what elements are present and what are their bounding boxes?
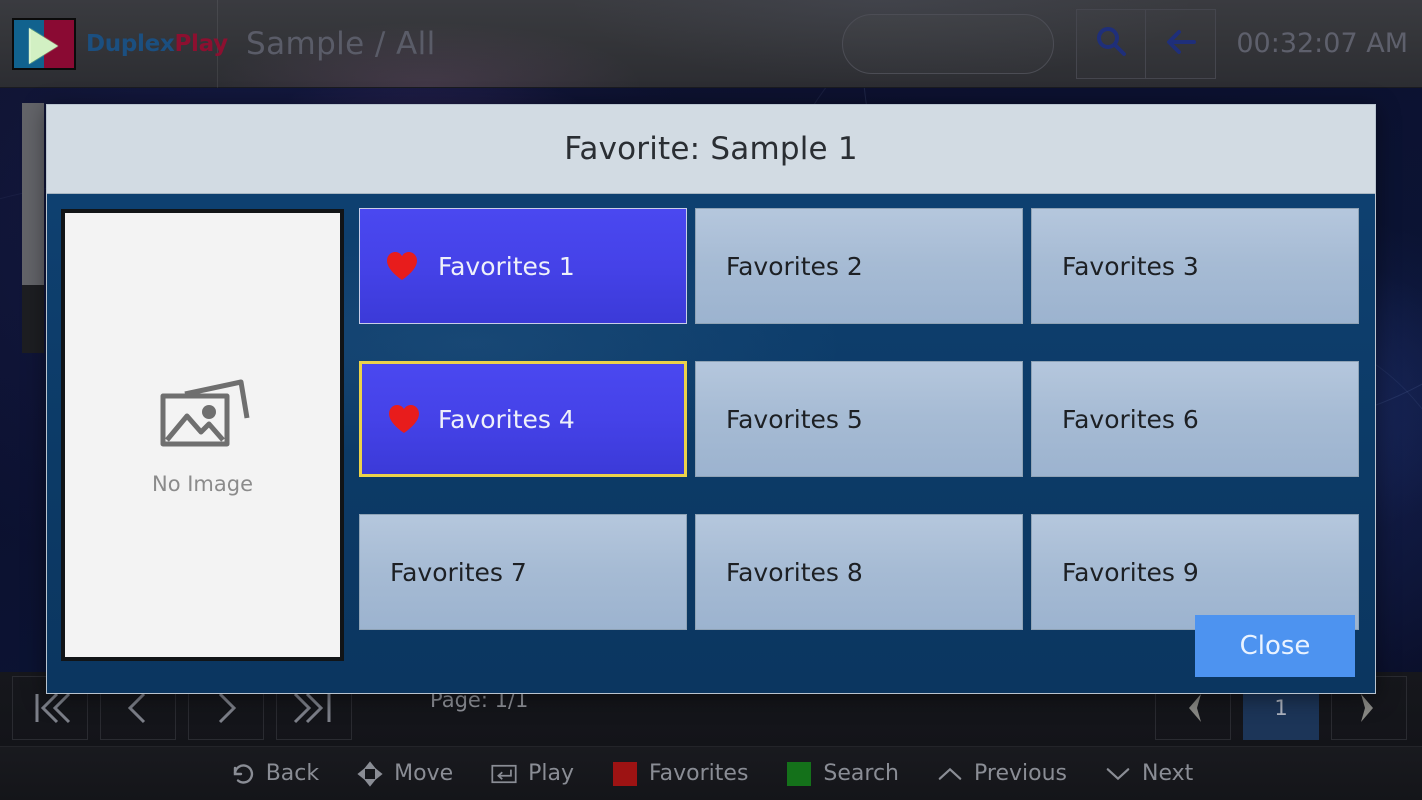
enter-key-icon	[491, 761, 517, 787]
footer-hint[interactable]: Play	[491, 761, 574, 787]
favorites-tile-label: Favorites 6	[1062, 405, 1199, 434]
favorites-tile[interactable]: Favorites 1	[359, 208, 687, 324]
favorites-tile-label: Favorites 9	[1062, 558, 1199, 587]
app-root: Page: 1/1 1 DuplexPlay Sampl	[0, 0, 1422, 800]
next-page-icon	[206, 690, 246, 726]
heart-icon	[386, 251, 418, 281]
favorites-grid: Favorites 1Favorites 2Favorites 3Favorit…	[359, 208, 1359, 661]
footer-hint-label: Next	[1142, 761, 1193, 786]
red-swatch-icon	[612, 761, 638, 787]
undo-arrow-icon	[229, 761, 255, 787]
heart-icon	[388, 404, 420, 434]
search-icon	[1093, 24, 1129, 64]
favorites-tile[interactable]: Favorites 9	[1031, 514, 1359, 630]
top-bar: DuplexPlay Sample / All 00:32:	[0, 0, 1422, 88]
favorites-tile[interactable]: Favorites 6	[1031, 361, 1359, 477]
favorites-tile[interactable]: Favorites 7	[359, 514, 687, 630]
footer-hint-label: Play	[528, 761, 574, 786]
dialog-title: Favorite: Sample 1	[564, 131, 858, 167]
footer-hint[interactable]: Search	[786, 761, 899, 787]
green-swatch-icon	[786, 761, 812, 787]
footer-hint-label: Search	[823, 761, 899, 786]
channel-poster: No Image	[61, 209, 344, 661]
footer-hint-label: Move	[394, 761, 453, 786]
no-image-gallery-icon	[155, 374, 251, 458]
brand-name-part2: Play	[174, 31, 227, 57]
favorites-tile-label: Favorites 8	[726, 558, 863, 587]
dialog-header: Favorite: Sample 1	[47, 105, 1375, 194]
favorites-tile-label: Favorites 1	[438, 252, 575, 281]
back-button[interactable]	[1146, 9, 1216, 79]
favorites-tile[interactable]: Favorites 8	[695, 514, 1023, 630]
search-button[interactable]	[1076, 9, 1146, 79]
brand-name-part1: Duplex	[86, 31, 174, 57]
footer-hint-label: Back	[266, 761, 319, 786]
chevron-right-icon	[1347, 688, 1391, 728]
footer-hint-label: Favorites	[649, 761, 748, 786]
clock: 00:32:07 AM	[1236, 28, 1408, 59]
brand-logo[interactable]: DuplexPlay	[0, 0, 218, 88]
footer-hint[interactable]: Favorites	[612, 761, 748, 787]
duplexplay-logo-icon	[12, 18, 76, 70]
skip-to-last-icon	[291, 690, 337, 726]
no-image-label: No Image	[152, 472, 253, 496]
back-arrow-icon	[1161, 25, 1201, 63]
favorites-tile-label: Favorites 7	[390, 558, 527, 587]
favorites-tile-label: Favorites 5	[726, 405, 863, 434]
footer-hint[interactable]: Previous	[937, 761, 1067, 787]
footer-hint[interactable]: Back	[229, 761, 319, 787]
favorites-tile[interactable]: Favorites 4	[359, 361, 687, 477]
brand-name: DuplexPlay	[86, 31, 228, 57]
footer-hint-label: Previous	[974, 761, 1067, 786]
favorites-tile-label: Favorites 3	[1062, 252, 1199, 281]
favorites-tile-label: Favorites 4	[438, 405, 575, 434]
skip-to-first-icon	[27, 690, 73, 726]
footer-hint[interactable]: Move	[357, 761, 453, 787]
chevron-up-icon	[937, 761, 963, 787]
chevron-down-icon	[1105, 761, 1131, 787]
favorites-tile-label: Favorites 2	[726, 252, 863, 281]
favorites-tile[interactable]: Favorites 3	[1031, 208, 1359, 324]
footer-hint-bar: BackMovePlayFavoritesSearchPreviousNext	[0, 746, 1422, 800]
breadcrumb: Sample / All	[246, 26, 436, 62]
favorite-dialog: Favorite: Sample 1 No Image Favorites 1F…	[46, 104, 1376, 694]
footer-hint[interactable]: Next	[1105, 761, 1193, 787]
close-button[interactable]: Close	[1195, 615, 1355, 677]
search-input[interactable]	[842, 14, 1054, 74]
channel-list-scrollbar-thumb[interactable]	[22, 103, 44, 285]
chevron-left-icon	[1171, 688, 1215, 728]
dialog-body: No Image Favorites 1Favorites 2Favorites…	[47, 194, 1375, 693]
top-bar-actions: 00:32:07 AM	[842, 0, 1422, 88]
favorites-tile[interactable]: Favorites 5	[695, 361, 1023, 477]
favorites-tile[interactable]: Favorites 2	[695, 208, 1023, 324]
previous-page-icon	[118, 690, 158, 726]
dpad-move-icon	[357, 761, 383, 787]
